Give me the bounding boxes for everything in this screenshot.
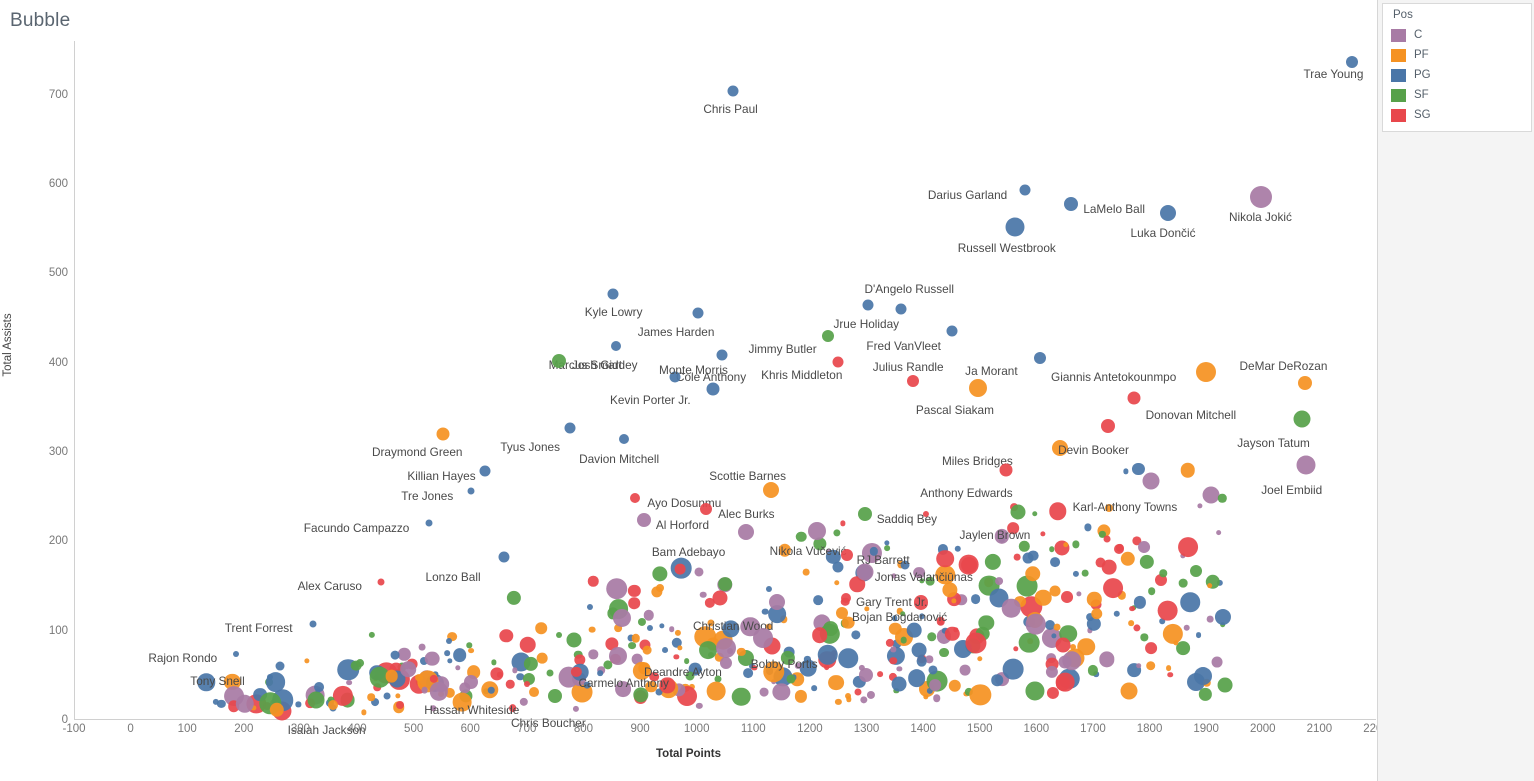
data-point[interactable] — [1025, 566, 1041, 582]
data-point[interactable] — [907, 623, 922, 638]
data-point[interactable] — [643, 646, 652, 655]
data-point-al-horford[interactable] — [637, 513, 651, 527]
data-point-christian-wood[interactable] — [769, 594, 785, 610]
data-point[interactable] — [1197, 503, 1202, 508]
data-point[interactable] — [939, 648, 949, 658]
data-point-label: Karl-Anthony Towns — [1073, 501, 1178, 513]
data-point-anthony-edwards[interactable] — [1000, 463, 1013, 476]
data-point[interactable] — [520, 698, 528, 706]
data-point[interactable] — [684, 658, 690, 664]
data-point[interactable] — [1215, 609, 1231, 625]
data-point[interactable] — [959, 664, 970, 675]
legend-item-label: PF — [1414, 49, 1429, 62]
x-tick-label: 300 — [291, 723, 310, 735]
data-point-jayson-tatum[interactable] — [1294, 410, 1311, 427]
legend-item-label: SG — [1414, 109, 1431, 122]
data-point[interactable] — [1013, 646, 1018, 651]
data-point[interactable] — [700, 591, 707, 598]
data-point-label: Bobby Portis — [751, 658, 818, 670]
data-point[interactable] — [978, 615, 993, 630]
data-point[interactable] — [468, 648, 474, 654]
data-point-lonzo-ball[interactable] — [498, 551, 509, 562]
data-point[interactable] — [839, 648, 859, 668]
data-point[interactable] — [1095, 557, 1106, 568]
data-point[interactable] — [1028, 550, 1039, 561]
data-point-tyus-jones[interactable] — [565, 422, 576, 433]
data-point[interactable] — [1081, 570, 1088, 577]
data-point-bam-adebayo[interactable] — [738, 524, 754, 540]
data-point[interactable] — [547, 670, 554, 677]
data-point[interactable] — [1025, 614, 1046, 635]
data-point[interactable] — [765, 586, 771, 592]
data-point[interactable] — [1019, 632, 1040, 653]
data-point-label: Julius Randle — [873, 361, 944, 373]
data-point-darius-garland[interactable] — [1019, 185, 1030, 196]
data-point[interactable] — [1046, 666, 1058, 678]
data-point-chris-paul[interactable] — [728, 86, 739, 97]
data-point[interactable] — [995, 577, 1003, 585]
data-point-chris-boucher[interactable] — [548, 689, 562, 703]
data-point[interactable] — [1121, 552, 1135, 566]
data-point-tony-snell[interactable] — [267, 674, 273, 680]
data-point[interactable] — [1196, 632, 1202, 638]
x-tick-label: 100 — [178, 723, 197, 735]
data-point[interactable] — [446, 638, 452, 644]
data-point[interactable] — [445, 650, 451, 656]
data-point[interactable] — [877, 671, 883, 677]
data-point[interactable] — [1103, 578, 1123, 598]
data-point-deandre-ayton[interactable] — [716, 638, 736, 658]
data-point[interactable] — [854, 689, 861, 696]
data-point[interactable] — [1113, 611, 1119, 617]
data-point-devin-booker[interactable] — [1101, 419, 1115, 433]
plot-area[interactable]: Trae YoungNikola JokićLuka DončićChris P… — [74, 41, 1376, 720]
data-points-layer: Trae YoungNikola JokićLuka DončićChris P… — [75, 41, 1376, 719]
data-point[interactable] — [1061, 591, 1073, 603]
data-point[interactable] — [1180, 463, 1195, 478]
data-point[interactable] — [395, 693, 400, 698]
data-point-label: Khris Middleton — [761, 369, 842, 381]
data-point[interactable] — [1179, 579, 1188, 588]
data-point[interactable] — [1211, 657, 1222, 668]
data-point[interactable] — [732, 688, 751, 707]
data-point[interactable] — [1121, 683, 1138, 700]
data-point[interactable] — [812, 628, 828, 644]
data-point[interactable] — [1218, 494, 1226, 502]
x-tick-label: 1400 — [910, 723, 936, 735]
data-point[interactable] — [1076, 591, 1081, 596]
data-point[interactable] — [418, 644, 425, 651]
data-point[interactable] — [840, 521, 845, 526]
data-point[interactable] — [524, 681, 530, 687]
data-point-donovan-mitchell[interactable] — [1127, 392, 1140, 405]
data-point-label: Tre Jones — [401, 490, 453, 502]
data-point[interactable] — [512, 668, 517, 673]
data-point[interactable] — [817, 645, 838, 666]
data-point[interactable] — [773, 683, 790, 700]
data-point[interactable] — [447, 658, 452, 663]
data-point-bojan-bogdanovi[interactable] — [836, 607, 848, 619]
data-point[interactable] — [1178, 537, 1198, 557]
data-point-draymond-green[interactable] — [436, 428, 449, 441]
data-point-ja-morant[interactable] — [1034, 352, 1046, 364]
data-point[interactable] — [421, 687, 428, 694]
legend-item-pf[interactable]: PF — [1383, 45, 1531, 65]
data-point[interactable] — [383, 692, 390, 699]
data-point[interactable] — [367, 694, 375, 702]
data-point[interactable] — [971, 595, 981, 605]
data-point[interactable] — [762, 608, 769, 615]
data-point[interactable] — [1059, 656, 1072, 669]
data-point-fred-vanvleet[interactable] — [947, 326, 958, 337]
data-point[interactable] — [1203, 486, 1220, 503]
data-point[interactable] — [1166, 665, 1172, 671]
y-tick-label: 0 — [18, 714, 68, 726]
data-point[interactable] — [1054, 624, 1061, 631]
data-point[interactable] — [1207, 583, 1213, 589]
y-axis-ticks: 0100200300400500600700 — [10, 41, 68, 720]
data-point[interactable] — [453, 649, 467, 663]
data-point[interactable] — [985, 553, 1001, 569]
data-point[interactable] — [356, 659, 364, 667]
data-point-ayo-dosunmu[interactable] — [630, 493, 640, 503]
data-point[interactable] — [556, 632, 562, 638]
data-point[interactable] — [1056, 673, 1075, 692]
data-point[interactable] — [1051, 557, 1061, 567]
data-point-josh-giddey[interactable] — [552, 354, 566, 368]
data-point[interactable] — [662, 647, 668, 653]
data-point-label: Ja Morant — [965, 365, 1017, 377]
data-point[interactable] — [1046, 687, 1058, 699]
data-point[interactable] — [404, 663, 410, 669]
data-point-pascal-siakam[interactable] — [969, 379, 987, 397]
data-point-alex-caruso[interactable] — [377, 578, 384, 585]
data-point[interactable] — [1180, 592, 1200, 612]
data-point-cole-anthony[interactable] — [706, 383, 719, 396]
data-point[interactable] — [628, 642, 636, 650]
data-point[interactable] — [304, 658, 309, 663]
data-point-hassan-whiteside[interactable] — [464, 675, 478, 689]
data-point[interactable] — [536, 622, 548, 634]
data-point[interactable] — [307, 691, 324, 708]
data-point-davion-mitchell[interactable] — [619, 434, 629, 444]
data-point[interactable] — [589, 626, 596, 633]
data-point[interactable] — [613, 609, 631, 627]
data-point[interactable] — [1207, 616, 1214, 623]
data-point[interactable] — [507, 590, 521, 604]
data-point[interactable] — [1138, 541, 1150, 553]
data-point-label: Jimmy Butler — [748, 343, 816, 355]
legend-item-pg[interactable]: PG — [1383, 65, 1531, 85]
data-point[interactable] — [828, 675, 844, 691]
data-point-joel-embiid[interactable] — [1297, 456, 1316, 475]
data-point-label: Alec Burks — [718, 508, 774, 520]
y-tick-label: 100 — [18, 625, 68, 637]
legend-swatch-icon — [1391, 89, 1406, 102]
data-point-trent-forrest[interactable] — [309, 620, 316, 627]
data-point-label: Hassan Whiteside — [424, 704, 519, 716]
data-point-nikola-vu-evi[interactable] — [808, 522, 826, 540]
data-point[interactable] — [296, 702, 301, 707]
data-point[interactable] — [567, 633, 582, 648]
data-point[interactable] — [1167, 672, 1173, 678]
data-point[interactable] — [588, 576, 598, 586]
legend-title: Pos — [1383, 8, 1531, 25]
data-point[interactable] — [1049, 547, 1054, 552]
data-point[interactable] — [760, 687, 769, 696]
x-tick-label: 800 — [574, 723, 593, 735]
data-point[interactable] — [1099, 652, 1114, 667]
data-point[interactable] — [795, 690, 807, 702]
data-point[interactable] — [1216, 530, 1222, 536]
data-point[interactable] — [834, 580, 839, 585]
data-point[interactable] — [916, 656, 927, 667]
data-point-luka-don-i[interactable] — [1160, 205, 1176, 221]
data-point[interactable] — [700, 641, 718, 659]
data-point[interactable] — [867, 691, 875, 699]
data-point[interactable] — [638, 618, 646, 626]
legend-card[interactable]: Pos CPFPGSFSG — [1382, 3, 1532, 132]
data-point[interactable] — [500, 629, 513, 642]
data-point[interactable] — [606, 578, 628, 600]
data-point-khris-middleton[interactable] — [833, 356, 844, 367]
data-point[interactable] — [813, 595, 823, 605]
bubble-chart-view: Bubble Total Assists 0100200300400500600… — [0, 0, 1534, 781]
data-point[interactable] — [1146, 661, 1156, 671]
data-point[interactable] — [628, 584, 640, 596]
data-point-russell-westbrook[interactable] — [1005, 217, 1024, 236]
data-point-isaiah-jackson[interactable] — [328, 700, 338, 710]
data-point[interactable] — [1134, 596, 1146, 608]
data-point[interactable] — [1003, 659, 1024, 680]
data-point[interactable] — [391, 650, 400, 659]
data-point[interactable] — [802, 569, 809, 576]
data-point-label: Anthony Edwards — [920, 487, 1012, 499]
x-tick-label: 0 — [127, 723, 133, 735]
data-point[interactable] — [1002, 599, 1021, 618]
data-point[interactable] — [647, 625, 653, 631]
data-point[interactable] — [656, 584, 664, 592]
data-point[interactable] — [347, 680, 353, 686]
data-point[interactable] — [696, 703, 702, 709]
legend-swatch-icon — [1391, 69, 1406, 82]
data-point-alec-burks[interactable] — [700, 503, 712, 515]
y-tick-label: 600 — [18, 178, 68, 190]
data-point[interactable] — [1132, 463, 1144, 475]
data-point[interactable] — [1114, 544, 1124, 554]
data-point[interactable] — [713, 590, 728, 605]
data-point-jaylen-brown[interactable] — [1010, 504, 1025, 519]
data-point[interactable] — [991, 675, 1003, 687]
data-point[interactable] — [396, 701, 404, 709]
data-point[interactable] — [669, 627, 675, 633]
data-point[interactable] — [628, 597, 640, 609]
data-point-tre-jones[interactable] — [468, 488, 475, 495]
data-point[interactable] — [276, 662, 285, 671]
data-point-label: Carmelo Anthony — [578, 677, 669, 689]
data-point[interactable] — [537, 653, 548, 664]
data-point-label: Joel Embiid — [1261, 484, 1322, 496]
data-point[interactable] — [908, 670, 926, 688]
data-point[interactable] — [1145, 642, 1157, 654]
data-point[interactable] — [1056, 637, 1071, 652]
data-point[interactable] — [965, 632, 986, 653]
data-point-karl-anthony-towns[interactable] — [1142, 473, 1159, 490]
data-point[interactable] — [385, 670, 398, 683]
data-point-monte-morris[interactable] — [717, 350, 728, 361]
data-point-james-harden[interactable] — [692, 307, 703, 318]
data-point[interactable] — [1190, 565, 1202, 577]
data-point[interactable] — [1104, 535, 1111, 542]
data-point-demar-derozan[interactable] — [1298, 376, 1312, 390]
data-point[interactable] — [1130, 606, 1136, 612]
data-point[interactable] — [1032, 511, 1037, 516]
data-point[interactable] — [361, 710, 366, 715]
data-point[interactable] — [678, 645, 683, 650]
data-point[interactable] — [1183, 625, 1190, 632]
data-point[interactable] — [1136, 663, 1142, 669]
data-point[interactable] — [1050, 586, 1061, 597]
data-point-nikola-joki[interactable] — [1250, 186, 1272, 208]
data-point[interactable] — [1157, 600, 1178, 621]
data-point-jimmy-butler[interactable] — [822, 330, 834, 342]
data-point[interactable] — [1148, 587, 1156, 595]
y-tick-label: 500 — [18, 267, 68, 279]
data-point-jonas-valan-i-nas[interactable] — [856, 563, 873, 580]
data-point[interactable] — [1139, 555, 1153, 569]
data-point-gary-trent-jr[interactable] — [841, 593, 851, 603]
data-point[interactable] — [430, 682, 448, 700]
data-point-rj-barrett[interactable] — [841, 549, 853, 561]
data-point[interactable] — [1194, 667, 1212, 685]
data-point[interactable] — [675, 564, 686, 575]
x-tick-label: 1900 — [1193, 723, 1219, 735]
data-point-label: James Harden — [638, 326, 715, 338]
data-point-killian-hayes[interactable] — [480, 465, 491, 476]
data-point[interactable] — [694, 568, 703, 577]
data-point[interactable] — [1123, 469, 1128, 474]
data-point[interactable] — [719, 577, 733, 591]
data-point[interactable] — [846, 696, 851, 701]
data-point-label: Davion Mitchell — [579, 453, 659, 465]
data-point[interactable] — [1026, 681, 1045, 700]
legend-item-sf[interactable]: SF — [1383, 85, 1531, 105]
data-point-kyle-lowry[interactable] — [607, 288, 618, 299]
data-point[interactable] — [884, 545, 890, 551]
data-point-scottie-barnes[interactable] — [763, 482, 779, 498]
data-point[interactable] — [587, 604, 593, 610]
data-point[interactable] — [812, 685, 818, 691]
data-point-label: Alex Caruso — [298, 580, 362, 592]
data-point[interactable] — [659, 623, 664, 628]
data-point[interactable] — [589, 650, 598, 659]
data-point-jrue-holiday[interactable] — [896, 304, 907, 315]
x-tick-label: 1800 — [1137, 723, 1163, 735]
data-point[interactable] — [833, 529, 840, 536]
data-point-label: Nikola Jokić — [1229, 211, 1292, 223]
data-point[interactable] — [851, 630, 860, 639]
data-point-label: Pascal Siakam — [916, 404, 994, 416]
data-point[interactable] — [933, 694, 941, 702]
data-point[interactable] — [835, 699, 841, 705]
data-point[interactable] — [970, 684, 991, 705]
data-point[interactable] — [929, 680, 941, 692]
data-point[interactable] — [892, 676, 907, 691]
data-point-facundo-campazzo[interactable] — [425, 520, 432, 527]
data-point[interactable] — [977, 656, 982, 661]
data-point-rajon-rondo[interactable] — [233, 651, 239, 657]
data-point-giannis-antetokounmpo[interactable] — [1196, 362, 1216, 382]
data-point[interactable] — [1133, 625, 1140, 632]
data-point-carmelo-anthony[interactable] — [609, 647, 627, 665]
data-point[interactable] — [949, 679, 961, 691]
data-point[interactable] — [1084, 524, 1091, 531]
data-point[interactable] — [1072, 541, 1079, 548]
x-tick-label: 1300 — [854, 723, 880, 735]
data-point[interactable] — [707, 682, 726, 701]
legend-item-sg[interactable]: SG — [1383, 105, 1531, 125]
data-point[interactable] — [455, 665, 460, 670]
data-point[interactable] — [1091, 608, 1103, 620]
data-point[interactable] — [923, 694, 928, 699]
data-point-label: Facundo Campazzo — [304, 522, 410, 534]
data-point[interactable] — [859, 668, 873, 682]
data-point[interactable] — [217, 700, 225, 708]
data-point[interactable] — [936, 550, 954, 568]
data-point[interactable] — [900, 637, 907, 644]
data-point[interactable] — [860, 696, 867, 703]
data-point-marcus-smart[interactable] — [611, 341, 621, 351]
data-point-trae-young[interactable] — [1346, 56, 1358, 68]
data-point[interactable] — [573, 706, 579, 712]
x-tick-label: 200 — [234, 723, 253, 735]
data-point[interactable] — [1141, 634, 1148, 641]
data-point[interactable] — [1073, 571, 1079, 577]
data-point[interactable] — [1177, 641, 1191, 655]
data-point[interactable] — [675, 630, 681, 636]
data-point-saddiq-bey[interactable] — [858, 507, 872, 521]
data-point[interactable] — [955, 546, 961, 552]
data-point-d-angelo-russell[interactable] — [862, 300, 873, 311]
data-point[interactable] — [314, 682, 324, 692]
data-point[interactable] — [1014, 554, 1021, 561]
legend-item-label: C — [1414, 29, 1422, 42]
data-point[interactable] — [506, 680, 515, 689]
data-point[interactable] — [1199, 688, 1211, 700]
data-point[interactable] — [425, 651, 440, 666]
data-point[interactable] — [674, 654, 679, 659]
data-point[interactable] — [529, 687, 539, 697]
data-point-bobby-portis[interactable] — [753, 628, 773, 648]
x-tick-label: 2000 — [1250, 723, 1276, 735]
data-point[interactable] — [1217, 677, 1232, 692]
data-point[interactable] — [927, 632, 936, 641]
data-point-label: Monte Morris — [659, 364, 728, 376]
data-point[interactable] — [1019, 541, 1029, 551]
data-point[interactable] — [796, 531, 807, 542]
data-point[interactable] — [520, 637, 537, 654]
data-point[interactable] — [369, 631, 375, 637]
data-point-lamelo-ball[interactable] — [1064, 197, 1078, 211]
data-point[interactable] — [652, 566, 667, 581]
data-point-julius-randle[interactable] — [907, 375, 919, 387]
data-point[interactable] — [1040, 531, 1045, 536]
legend-item-c[interactable]: C — [1383, 25, 1531, 45]
data-point[interactable] — [491, 660, 496, 665]
data-point[interactable] — [897, 666, 902, 671]
data-point[interactable] — [705, 598, 715, 608]
data-point[interactable] — [1049, 503, 1066, 520]
